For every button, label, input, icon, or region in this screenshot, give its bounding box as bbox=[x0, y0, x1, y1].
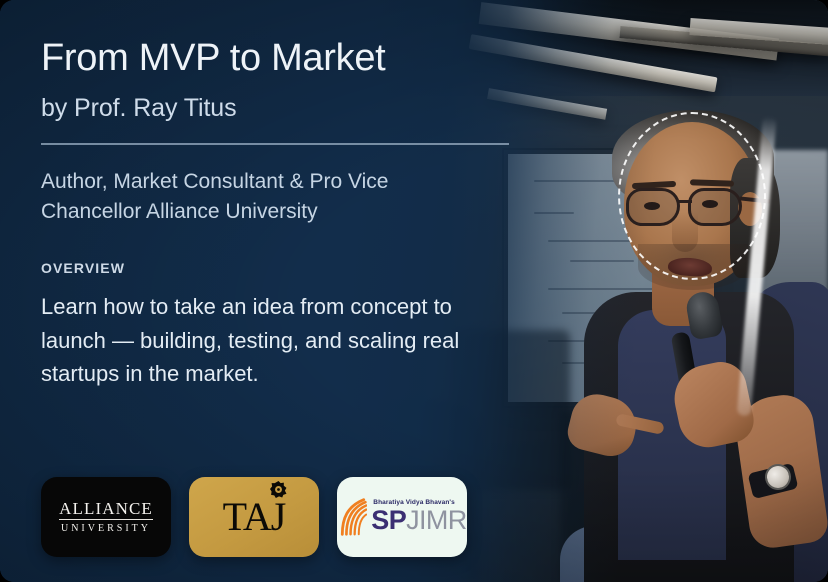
rosette-medallion-icon bbox=[270, 481, 287, 498]
overview-label: OVERVIEW bbox=[41, 260, 561, 276]
spjimr-name-jimr: JIMR bbox=[406, 505, 467, 535]
alliance-logo-line2: UNIVERSITY bbox=[59, 523, 153, 534]
speaker-role: Author, Market Consultant & Pro Vice Cha… bbox=[41, 167, 461, 227]
spjimr-wordmark: Bharatiya Vidya Bhavan's SPJIMR bbox=[371, 500, 466, 535]
slide-byline: by Prof. Ray Titus bbox=[41, 94, 561, 123]
badge-alliance-university[interactable]: ALLIANCE UNIVERSITY bbox=[41, 477, 171, 557]
slide-text-content: From MVP to Market by Prof. Ray Titus Au… bbox=[41, 38, 561, 391]
alliance-university-logo: ALLIANCE UNIVERSITY bbox=[59, 500, 153, 534]
taj-logo: TAJ bbox=[223, 497, 286, 537]
taj-logo-text: TAJ bbox=[223, 494, 286, 539]
spjimr-name: SPJIMR bbox=[371, 507, 466, 534]
partner-logo-row: ALLIANCE UNIVERSITY TAJ bbox=[41, 477, 467, 557]
alliance-logo-line1: ALLIANCE bbox=[59, 500, 153, 520]
slide-title: From MVP to Market bbox=[41, 38, 561, 80]
divider-rule bbox=[41, 143, 509, 145]
overview-body: Learn how to take an idea from concept t… bbox=[41, 290, 519, 390]
swoosh-icon bbox=[339, 497, 367, 537]
badge-taj[interactable]: TAJ bbox=[189, 477, 319, 557]
dashed-circle-decoration bbox=[618, 112, 766, 280]
spjimr-logo: Bharatiya Vidya Bhavan's SPJIMR bbox=[337, 497, 466, 537]
badge-spjimr[interactable]: Bharatiya Vidya Bhavan's SPJIMR bbox=[337, 477, 467, 557]
spjimr-name-sp: SP bbox=[371, 505, 406, 535]
presentation-slide: From MVP to Market by Prof. Ray Titus Au… bbox=[0, 0, 828, 582]
